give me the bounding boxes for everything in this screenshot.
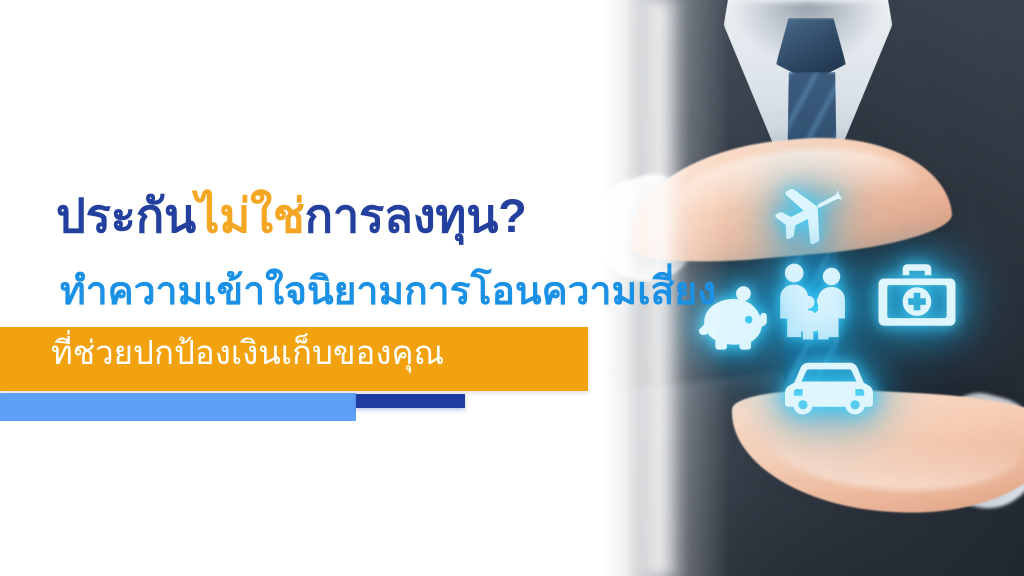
headline-word-insurance: ประกัน [56,189,196,242]
highlight-bar-text: ที่ช่วยปกป้องเงินเก็บของคุณ [51,336,444,369]
headline-line-1: ประกันไม่ใช่การลงทุน? [56,192,527,239]
car-icon [785,356,873,418]
first-aid-kit-icon [877,262,957,328]
navy-accent-bar [356,394,465,408]
light-blue-accent-bar [0,393,356,421]
headline-line-2: ทำความเข้าใจนิยามการโอนความเสี่ยง [60,272,716,311]
family-icon [772,262,856,340]
insurance-promo-banner: ประกันไม่ใช่การลงทุน? ทำความเข้าใจนิยามก… [0,0,1024,576]
headline-word-investment: การลงทุน? [305,189,527,242]
airplane-icon [766,176,844,250]
headline-word-not: ไม่ใช่ [196,189,305,242]
